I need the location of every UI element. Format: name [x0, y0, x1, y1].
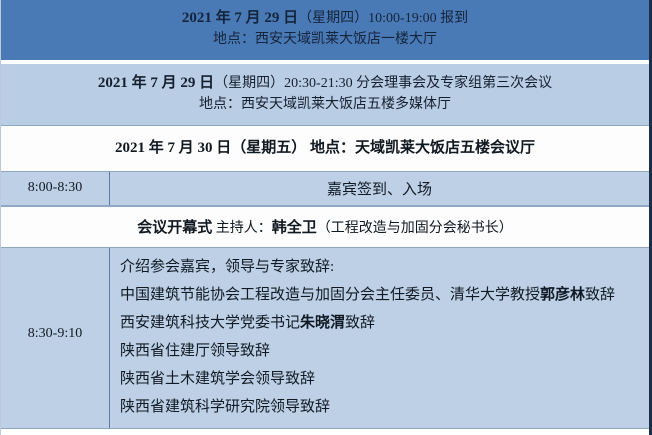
banner-registration: 2021 年 7 月 29 日（星期四）10:00-19:00 报到 地点：西安…	[1, 0, 649, 63]
banner-day-two-venue: 地点：天域凯莱大饭店五楼会议厅	[306, 140, 535, 156]
opening-ceremony-host-name: 韩全卫	[272, 220, 317, 236]
banner-day-two: 2021 年 7 月 30 日（星期五） 地点：天域凯莱大饭店五楼会议厅	[1, 126, 649, 172]
speech-guo-prefix: 中国建筑节能协会工程改造与加固分会主任委员、清华大学教授	[120, 287, 540, 303]
opening-ceremony-title: 会议开幕式	[137, 220, 212, 236]
row-opening-ceremony-content: 会议开幕式 主持人：韩全卫（工程改造与加固分会秘书长）	[1, 207, 649, 247]
speech-line-housing-dept: 陕西省住建厅领导致辞	[120, 338, 641, 366]
banner-council-meeting: 2021 年 7 月 29 日（星期四）20:30-21:30 分会理事会及专家…	[1, 63, 649, 126]
banner-council-date: 2021 年 7 月 29 日	[98, 75, 214, 91]
speech-line-zhu: 西安建筑科技大学党委书记朱晓渭致辞	[120, 310, 641, 338]
speech-zhu-prefix: 西安建筑科技大学党委书记	[120, 315, 300, 331]
banner-council-line2: 地点：西安天域凯莱大饭店五楼多媒体厅	[1, 95, 649, 115]
table-row-speeches: 8:30-9:10 介绍参会嘉宾，领导与专家致辞: 中国建筑节能协会工程改造与加…	[1, 248, 649, 429]
speech-zhu-suffix: 致辞	[345, 315, 375, 331]
banner-registration-line1: 2021 年 7 月 29 日（星期四）10:00-19:00 报到	[1, 8, 649, 30]
speech-line-civil-society: 陕西省土木建筑学会领导致辞	[120, 366, 641, 394]
speech-guo-suffix: 致辞	[585, 287, 615, 303]
row-speeches-time: 8:30-9:10	[1, 248, 110, 428]
speech-zhu-name: 朱晓渭	[300, 315, 345, 331]
banner-day-two-date: 2021 年 7 月 30 日（星期五）	[115, 140, 306, 156]
speech-line-research-institute: 陕西省建筑科学研究院领导致辞	[120, 394, 641, 422]
speech-line-intro-text: 介绍参会嘉宾，领导与专家致辞:	[120, 259, 334, 275]
banner-registration-detail: （星期四）10:00-19:00 报到	[298, 11, 468, 26]
conference-agenda-table: 2021 年 7 月 29 日（星期四）10:00-19:00 报到 地点：西安…	[0, 0, 652, 435]
row-signin-content: 嘉宾签到、入场	[110, 172, 649, 205]
opening-ceremony-host-label: 主持人：	[212, 221, 272, 236]
banner-council-detail: （星期四）20:30-21:30 分会理事会及专家组第三次会议	[214, 76, 552, 91]
speech-research-institute-text: 陕西省建筑科学研究院领导致辞	[120, 399, 330, 415]
banner-registration-date: 2021 年 7 月 29 日	[182, 10, 298, 26]
opening-ceremony-host-title: （工程改造与加固分会秘书长）	[317, 221, 513, 236]
table-row-signin: 8:00-8:30 嘉宾签到、入场	[1, 172, 649, 206]
speech-line-guo: 中国建筑节能协会工程改造与加固分会主任委员、清华大学教授郭彦林致辞	[120, 282, 641, 310]
speech-line-intro: 介绍参会嘉宾，领导与专家致辞:	[120, 254, 641, 282]
banner-registration-line2: 地点：西安天域凯莱大饭店一楼大厅	[1, 30, 649, 50]
speech-civil-society-text: 陕西省土木建筑学会领导致辞	[120, 371, 315, 387]
banner-day-two-line1: 2021 年 7 月 30 日（星期五） 地点：天域凯莱大饭店五楼会议厅	[1, 138, 649, 160]
speech-housing-dept-text: 陕西省住建厅领导致辞	[120, 343, 270, 359]
row-speeches-content: 介绍参会嘉宾，领导与专家致辞: 中国建筑节能协会工程改造与加固分会主任委员、清华…	[110, 248, 649, 428]
row-signin-time: 8:00-8:30	[1, 172, 110, 205]
banner-council-line1: 2021 年 7 月 29 日（星期四）20:30-21:30 分会理事会及专家…	[1, 73, 649, 95]
table-row-opening-ceremony: 会议开幕式 主持人：韩全卫（工程改造与加固分会秘书长）	[1, 206, 649, 248]
speech-guo-name: 郭彦林	[540, 287, 585, 303]
